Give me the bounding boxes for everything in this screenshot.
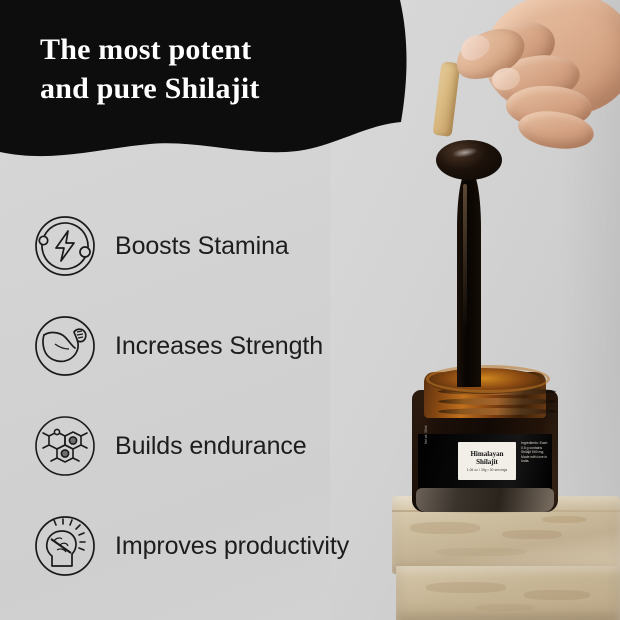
jar-label-sub: 1.06 oz / 30g • 30 servings (467, 468, 507, 472)
molecule-hexagon-icon (33, 414, 97, 478)
page-title: The most potent and pure Shilajit (40, 30, 370, 108)
benefit-item-endurance: Builds endurance (33, 396, 393, 496)
hand (432, 0, 620, 174)
headline-line-1: The most potent (40, 30, 370, 69)
product-marketing-image: Net wt. 30ml Himalayan Shilajit 1.06 oz … (0, 0, 620, 620)
jar-label: Net wt. 30ml Himalayan Shilajit 1.06 oz … (418, 434, 552, 492)
jar-label-line2: Shilajit (476, 458, 498, 466)
brain-head-idea-icon (33, 514, 97, 578)
benefit-label-stamina: Boosts Stamina (115, 232, 289, 261)
lightning-bolt-orbit-icon (33, 214, 97, 278)
benefit-label-endurance: Builds endurance (115, 432, 307, 461)
flexed-bicep-icon (33, 314, 97, 378)
headline-line-2: and pure Shilajit (40, 69, 370, 108)
jar-label-line1: Himalayan (470, 450, 503, 458)
jar-label-front: Himalayan Shilajit 1.06 oz / 30g • 30 se… (458, 442, 516, 480)
jar-base (416, 488, 554, 512)
jar-label-ingredients: Ingredients: Each 0.5 g contains Shilaji… (521, 441, 551, 464)
shilajit-jar: Net wt. 30ml Himalayan Shilajit 1.06 oz … (412, 372, 558, 512)
jar-label-side-left: Net wt. 30ml (424, 418, 428, 444)
benefit-label-strength: Increases Strength (115, 332, 323, 361)
jar-rim (426, 365, 550, 393)
benefit-label-productivity: Improves productivity (115, 532, 349, 561)
benefit-list: Boosts Stamina Increases Strength (33, 196, 393, 596)
resin-stream (457, 172, 481, 387)
stone-pedestal-bottom (396, 566, 620, 620)
benefit-item-strength: Increases Strength (33, 296, 393, 396)
benefit-item-productivity: Improves productivity (33, 496, 393, 596)
headline-banner: The most potent and pure Shilajit (0, 0, 420, 190)
benefit-item-stamina: Boosts Stamina (33, 196, 393, 296)
